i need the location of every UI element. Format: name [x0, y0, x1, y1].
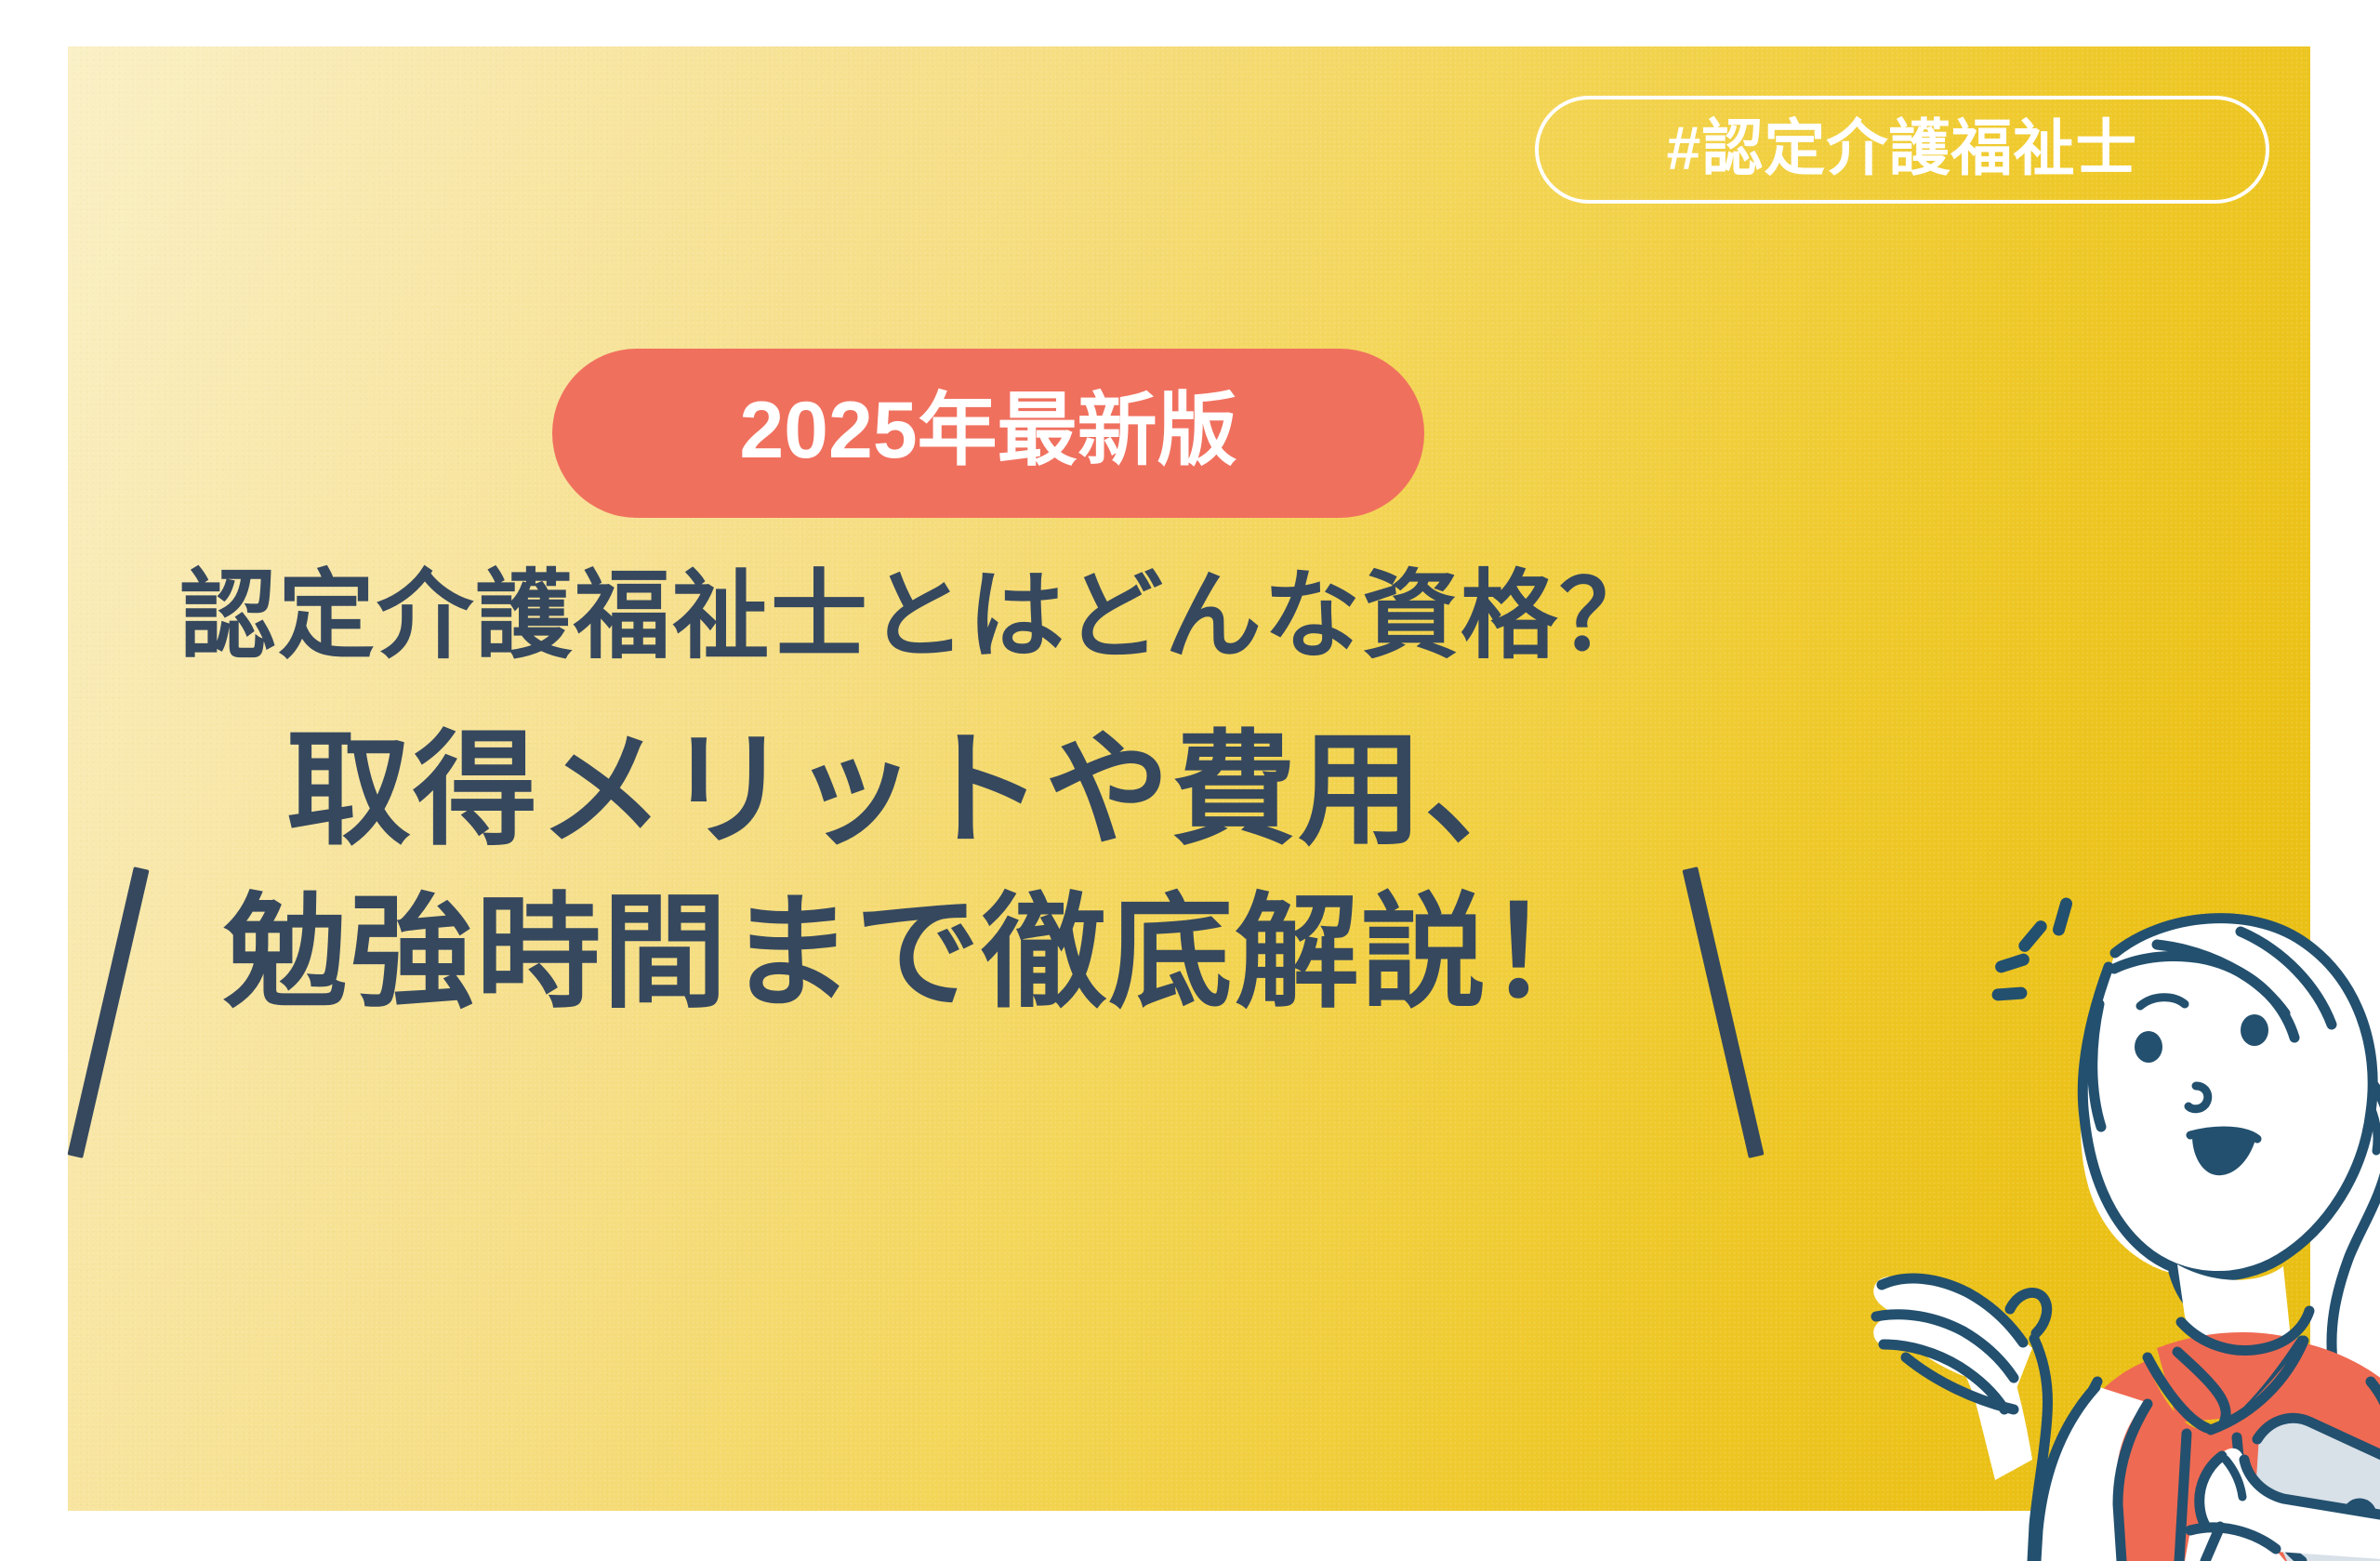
year-badge: 2025年最新版 [552, 349, 1424, 518]
hashtag-badge: #認定介護福祉士 [1535, 96, 2269, 204]
headline-line-2: 取得メリットや費用、 [68, 713, 1769, 870]
caregiver-woman-illustration [1850, 865, 2380, 1561]
headline-line-1: 認定介護福祉士とはどんな資格？ [68, 558, 1769, 676]
eye-left-icon [2135, 1031, 2162, 1063]
head-group [2081, 916, 2373, 1324]
banner-canvas: #認定介護福祉士 2025年最新版 認定介護福祉士とはどんな資格？ 取得メリット… [0, 0, 2380, 1561]
headline-block: 認定介護福祉士とはどんな資格？ 取得メリットや費用、 勉強時間まで徹底解説！ [68, 558, 1769, 1033]
eye-right-icon [2241, 1014, 2268, 1046]
year-badge-label: 2025年最新版 [739, 390, 1236, 470]
headline-line-3: 勉強時間まで徹底解説！ [68, 876, 1769, 1033]
hashtag-badge-label: #認定介護福祉士 [1667, 117, 2138, 179]
open-hand-arm-group [1873, 1274, 2148, 1561]
